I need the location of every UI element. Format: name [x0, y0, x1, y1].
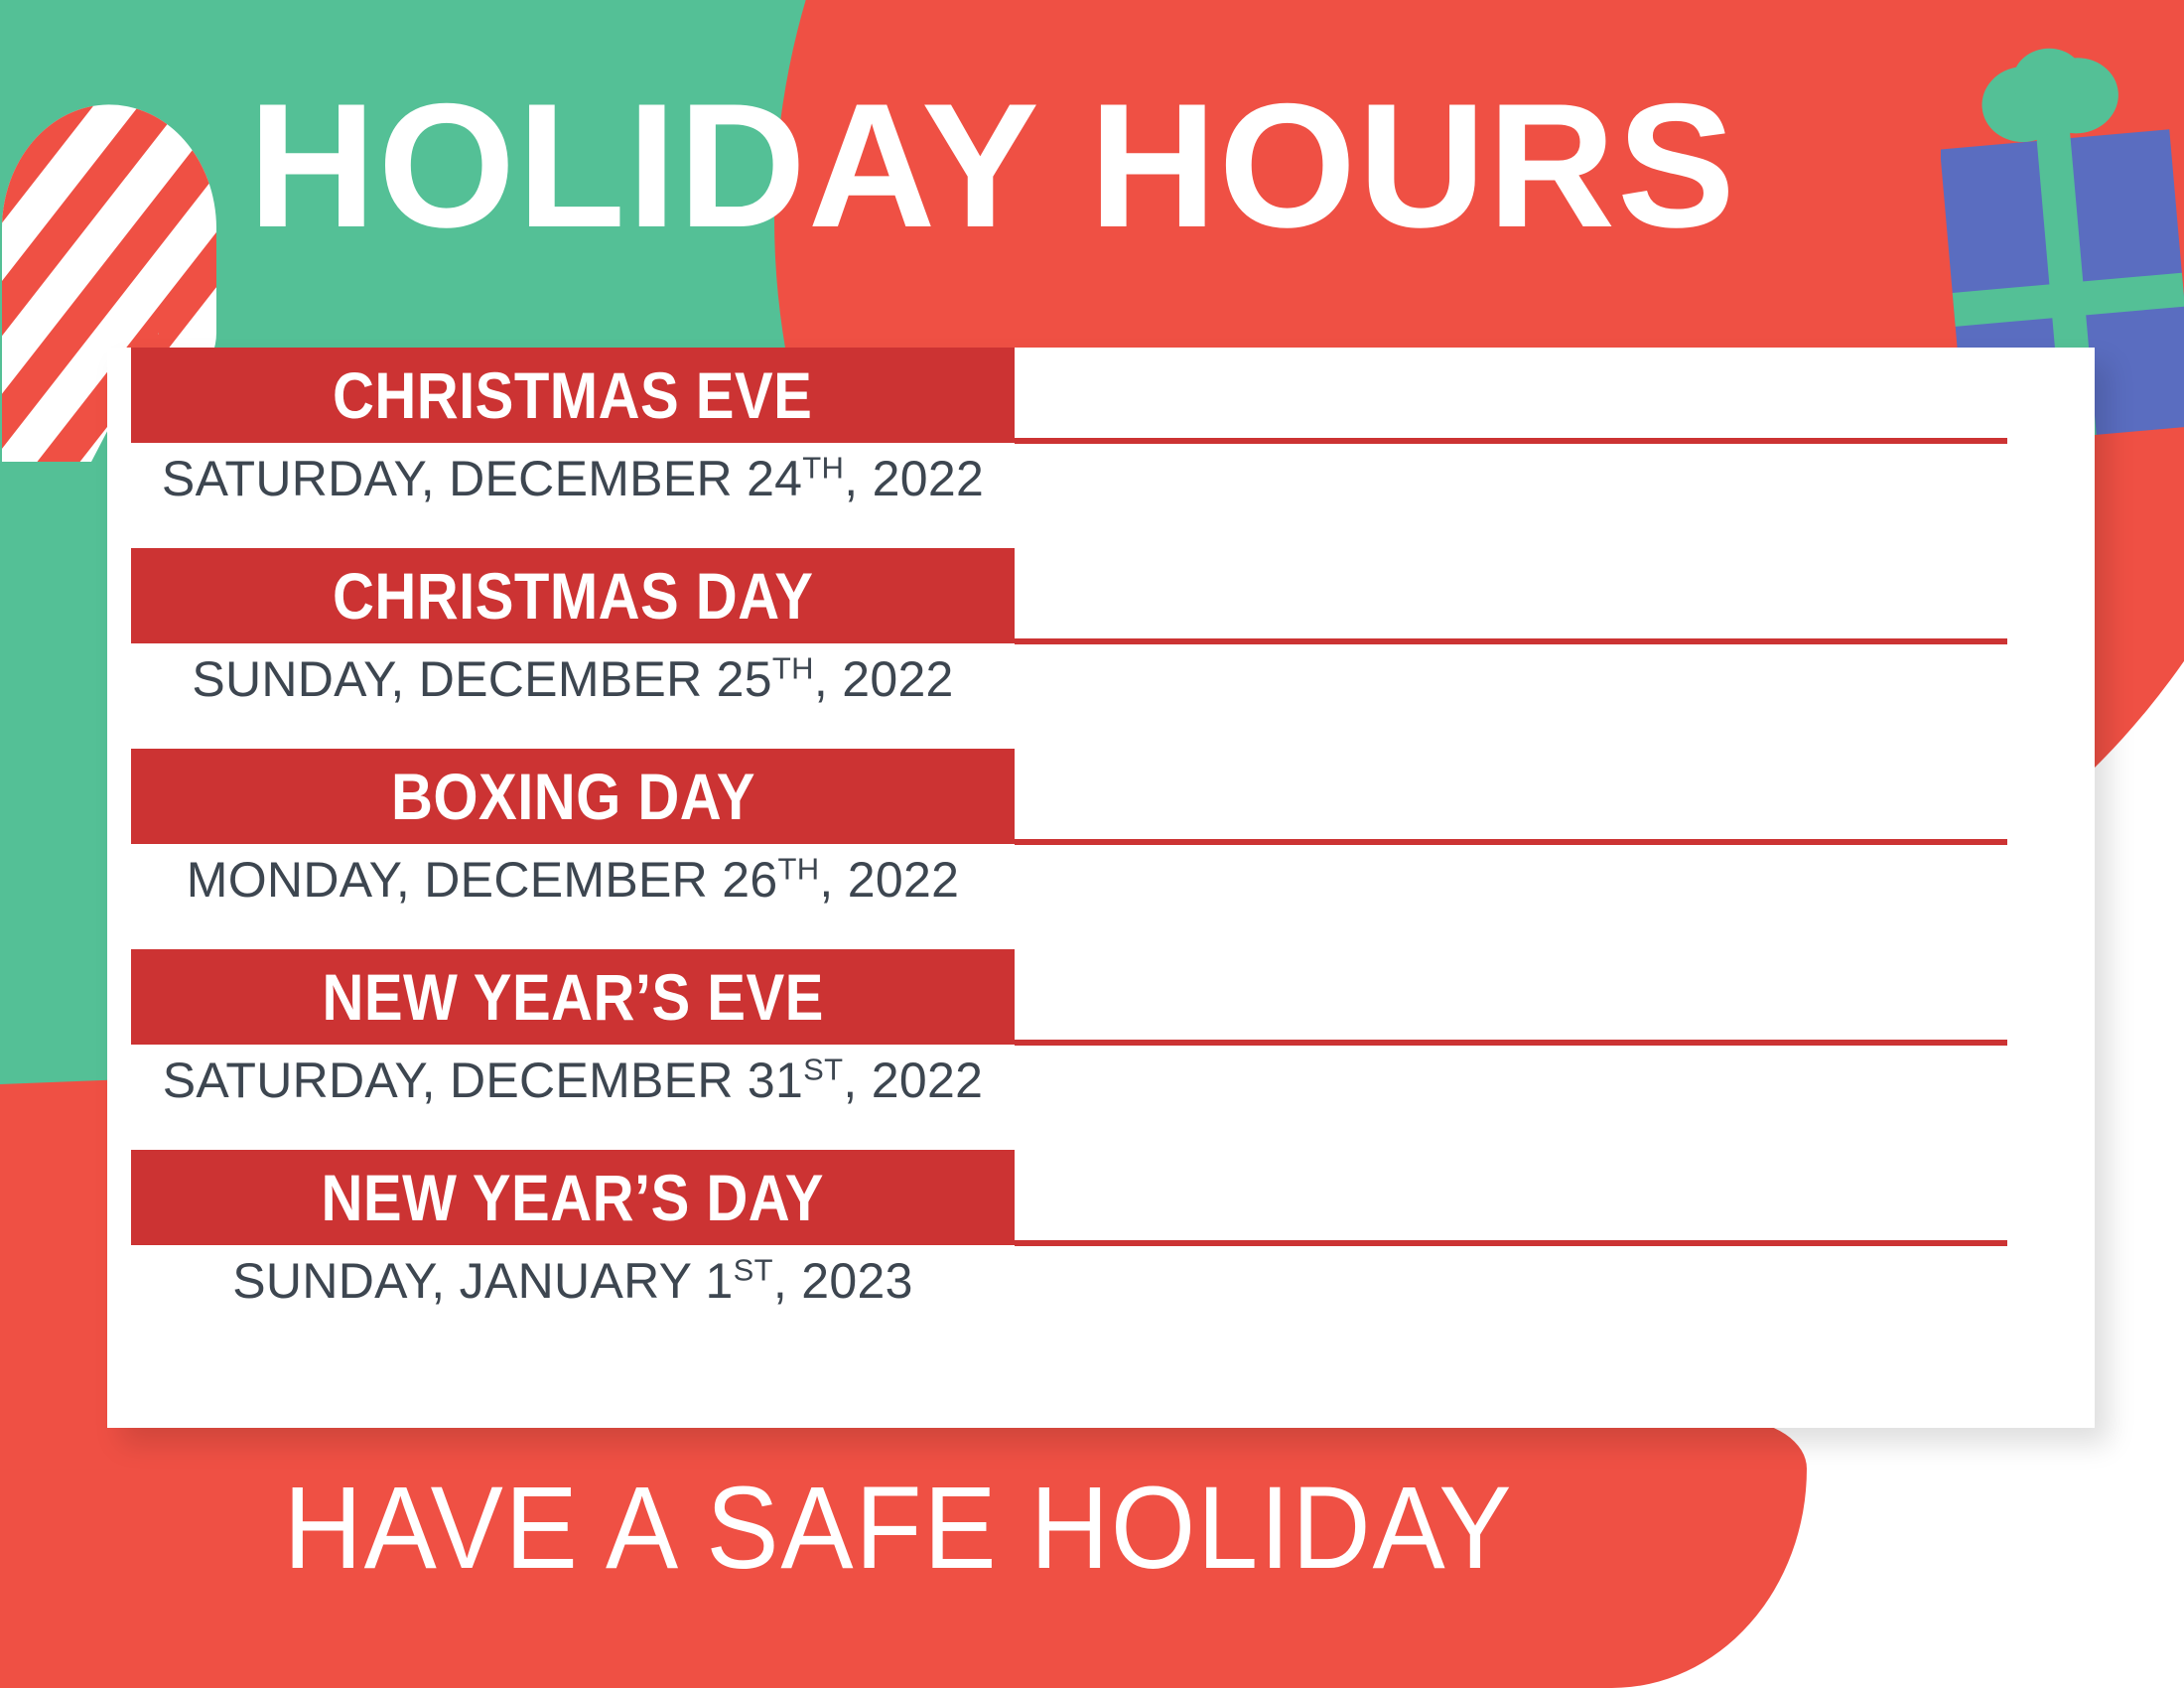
schedule-row: CHRISTMAS EVE SATURDAY, DECEMBER 24TH, 2… — [107, 348, 2095, 548]
holiday-date-year: , 2022 — [814, 651, 954, 707]
footer-message: HAVE A SAFE HOLIDAY — [63, 1470, 1733, 1587]
page-title: HOLIDAY HOURS — [0, 77, 1985, 254]
holiday-name-band: NEW YEAR’S EVE — [131, 949, 1015, 1045]
holiday-date: SUNDAY, DECEMBER 25TH, 2022 — [131, 651, 1015, 709]
holiday-date-year: , 2022 — [843, 1053, 983, 1108]
schedule-row: NEW YEAR’S EVE SATURDAY, DECEMBER 31ST, … — [107, 949, 2095, 1150]
holiday-date-year: , 2023 — [773, 1253, 913, 1309]
holiday-date-ordinal: TH — [777, 851, 819, 886]
holiday-name: CHRISTMAS DAY — [333, 563, 813, 629]
holiday-date-weekday: SATURDAY, DECEMBER 24 — [162, 451, 802, 506]
holiday-name: BOXING DAY — [391, 764, 755, 829]
holiday-name: CHRISTMAS EVE — [333, 362, 812, 428]
hours-rule-line — [1015, 1040, 2007, 1046]
holiday-name-band: CHRISTMAS DAY — [131, 548, 1015, 643]
holiday-date-year: , 2022 — [819, 852, 959, 908]
holiday-date: MONDAY, DECEMBER 26TH, 2022 — [131, 852, 1015, 910]
holiday-date-ordinal: TH — [802, 450, 844, 485]
schedule-card: CHRISTMAS EVE SATURDAY, DECEMBER 24TH, 2… — [107, 348, 2095, 1428]
holiday-hours-poster: HOLIDAY HOURS CHRISTMAS EVE SATURDAY, DE… — [0, 0, 2184, 1688]
schedule-row: CHRISTMAS DAY SUNDAY, DECEMBER 25TH, 202… — [107, 548, 2095, 749]
hours-rule-line — [1015, 638, 2007, 644]
schedule-row: BOXING DAY MONDAY, DECEMBER 26TH, 2022 — [107, 749, 2095, 949]
holiday-date: SATURDAY, DECEMBER 24TH, 2022 — [131, 451, 1015, 508]
holiday-date-weekday: SUNDAY, DECEMBER 25 — [192, 651, 772, 707]
holiday-date-weekday: SATURDAY, DECEMBER 31 — [163, 1053, 803, 1108]
holiday-name-band: NEW YEAR’S DAY — [131, 1150, 1015, 1245]
hours-rule-line — [1015, 438, 2007, 444]
schedule-list: CHRISTMAS EVE SATURDAY, DECEMBER 24TH, 2… — [107, 348, 2095, 1364]
holiday-name-band: CHRISTMAS EVE — [131, 348, 1015, 443]
schedule-row: NEW YEAR’S DAY SUNDAY, JANUARY 1ST, 2023 — [107, 1150, 2095, 1364]
holiday-date-weekday: SUNDAY, JANUARY 1 — [232, 1253, 733, 1309]
hours-rule-line — [1015, 839, 2007, 845]
holiday-name: NEW YEAR’S EVE — [322, 964, 823, 1030]
holiday-date: SATURDAY, DECEMBER 31ST, 2022 — [131, 1053, 1015, 1110]
holiday-date-ordinal: ST — [803, 1052, 843, 1086]
holiday-date: SUNDAY, JANUARY 1ST, 2023 — [131, 1253, 1015, 1311]
holiday-date-ordinal: TH — [772, 650, 814, 685]
holiday-date-year: , 2022 — [844, 451, 984, 506]
holiday-date-ordinal: ST — [734, 1252, 773, 1287]
holiday-name-band: BOXING DAY — [131, 749, 1015, 844]
holiday-name: NEW YEAR’S DAY — [322, 1165, 824, 1230]
hours-rule-line — [1015, 1240, 2007, 1246]
holiday-date-weekday: MONDAY, DECEMBER 26 — [187, 852, 778, 908]
